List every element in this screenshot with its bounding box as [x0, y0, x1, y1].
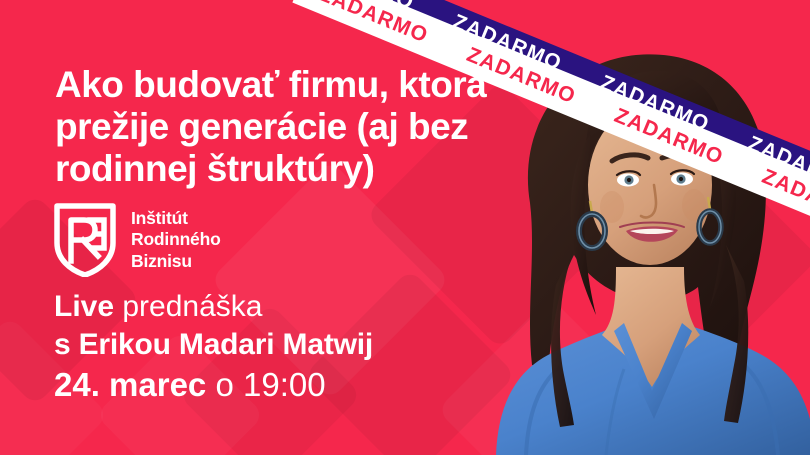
event-speaker-line: s Erikou Madari Matwij	[54, 326, 373, 364]
ribbon-label: ZADARMO	[296, 0, 452, 55]
brand-logo: Inštitút Rodinného Biznisu	[54, 203, 221, 277]
logo-line-1: Inštitút	[131, 208, 221, 230]
event-format-strong: Live	[54, 290, 114, 323]
event-format-line: Live prednáška	[54, 288, 373, 326]
event-format-rest: prednáška	[114, 290, 262, 323]
headline-line-2: prežije generácie (aj bez	[55, 106, 555, 148]
logo-line-2: Rodinného	[131, 229, 221, 251]
event-details: Live prednáška s Erikou Madari Matwij 24…	[54, 288, 373, 405]
headline: Ako budovať firmu, ktorá prežije generác…	[55, 64, 555, 191]
ribbon-label: ZADARMO	[282, 0, 438, 22]
pupil-right	[679, 177, 683, 181]
headline-line-1: Ako budovať firmu, ktorá	[55, 64, 555, 106]
event-time: o 19:00	[206, 366, 325, 403]
promo-banner: ZADARMO ZADARMO ZADARMO ZADARMO ZADARMO …	[0, 0, 810, 455]
headline-line-3: rodinnej štruktúry)	[55, 148, 555, 190]
event-datetime-line: 24. marec o 19:00	[54, 364, 373, 406]
logo-line-3: Biznisu	[131, 251, 221, 273]
shield-rb-icon	[54, 203, 116, 277]
event-date: 24. marec	[54, 366, 206, 403]
pupil-left	[627, 178, 631, 182]
logo-wordmark: Inštitút Rodinného Biznisu	[131, 208, 221, 273]
